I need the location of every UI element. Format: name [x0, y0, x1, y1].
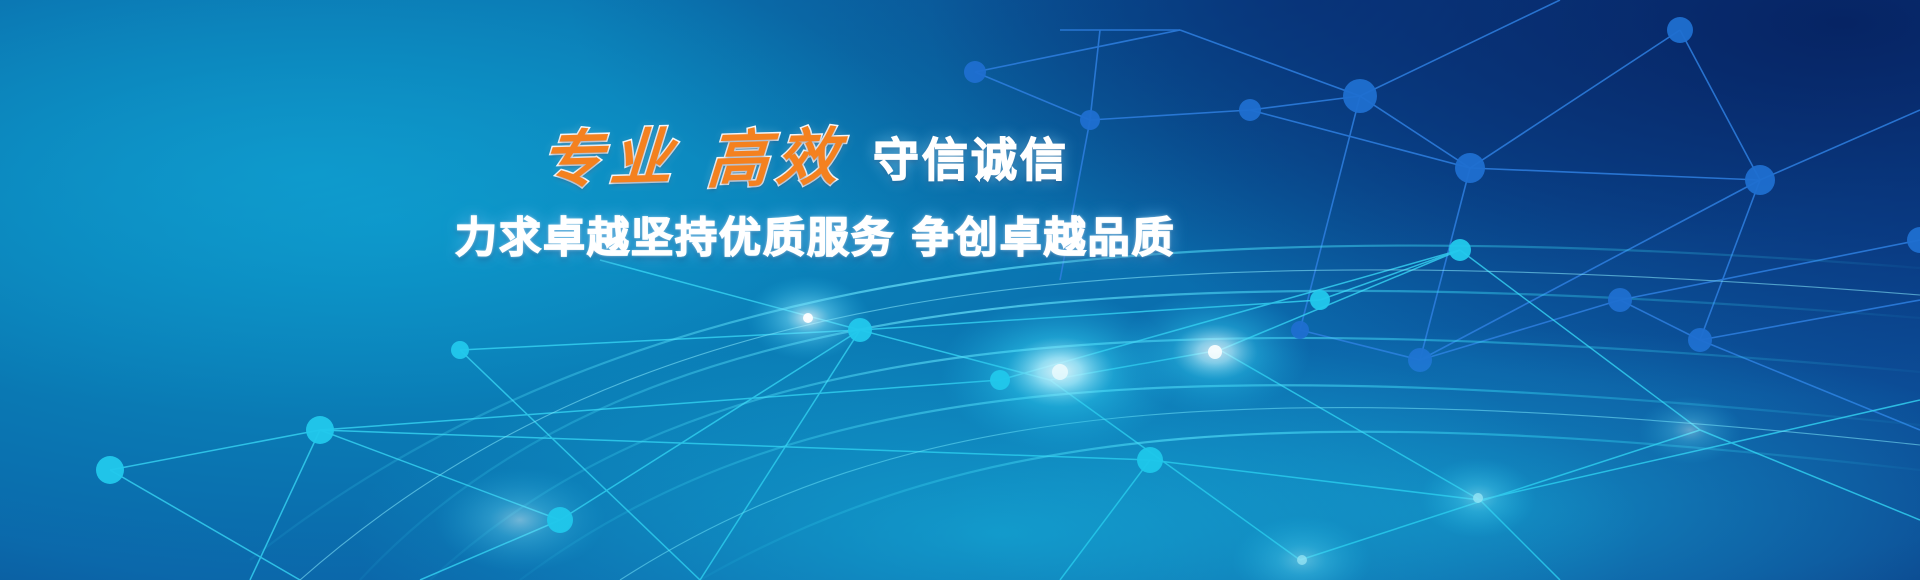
background-vignette: [0, 0, 1920, 580]
headline-brush-part-1: 专业: [539, 126, 681, 192]
banner-text-block: 专业 高效 守信诚信 力求卓越坚持优质服务 争创卓越品质: [455, 128, 1155, 265]
hero-banner: 专业 高效 守信诚信 力求卓越坚持优质服务 争创卓越品质: [0, 0, 1920, 580]
headline-brush-part-2: 高效: [705, 126, 847, 192]
headline-outline-part: 守信诚信: [873, 137, 1069, 183]
banner-subtitle: 力求卓越坚持优质服务 争创卓越品质: [455, 204, 1155, 265]
banner-headline: 专业 高效 守信诚信: [455, 128, 1155, 190]
